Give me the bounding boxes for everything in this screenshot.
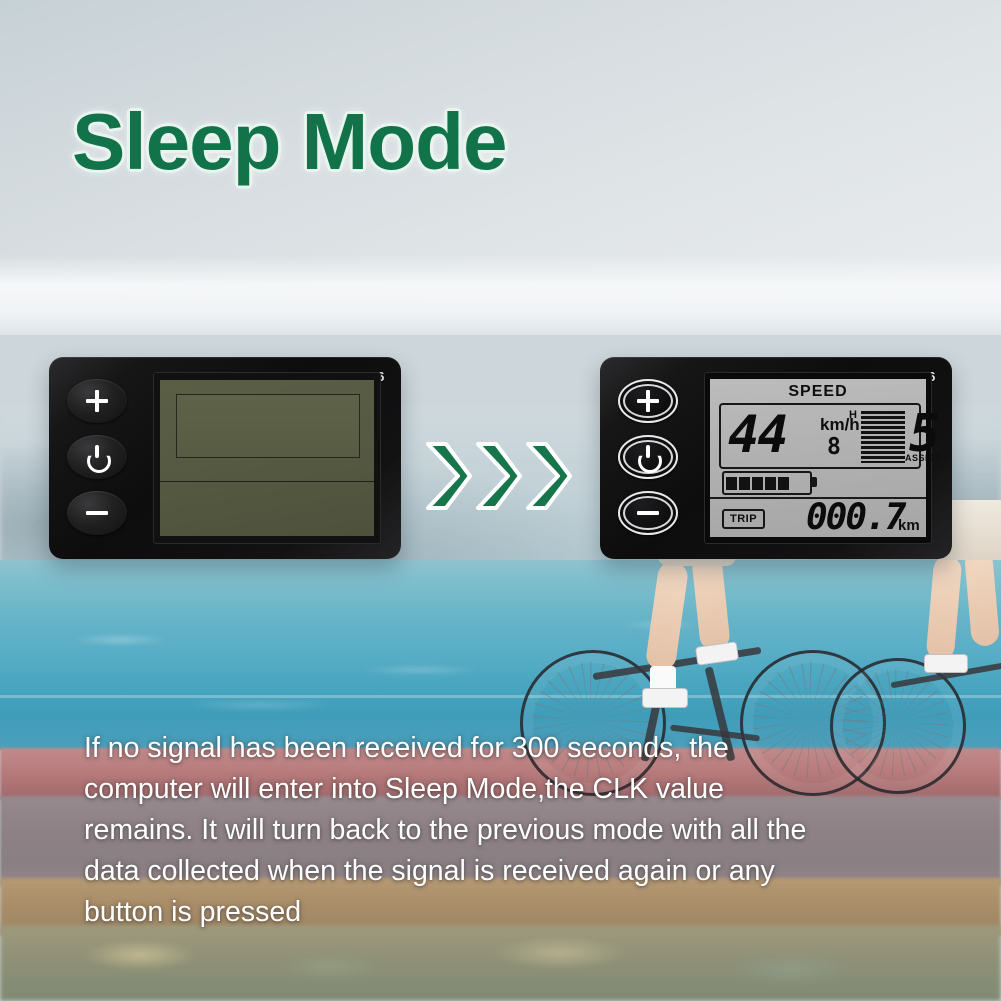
lcd-upper-field	[176, 394, 360, 458]
lcd-screen-blank	[153, 372, 381, 544]
cyclist-leg	[691, 553, 731, 652]
power-icon	[636, 445, 660, 469]
speed-value: 44	[728, 407, 787, 463]
lcd-panel	[160, 380, 374, 536]
cyclist-leg	[926, 555, 963, 661]
cyclist-shoe	[695, 641, 739, 666]
minus-button[interactable]	[618, 491, 678, 535]
plus-button[interactable]	[618, 379, 678, 423]
button-column	[67, 379, 129, 539]
odometer-unit: km	[898, 517, 920, 534]
page-title: Sleep Mode	[72, 96, 507, 188]
minus-icon	[635, 500, 661, 526]
power-button[interactable]	[618, 435, 678, 479]
power-gauge-bars	[861, 411, 905, 463]
sleeping-display: S866	[49, 357, 401, 559]
battery-terminal	[812, 477, 817, 487]
minus-icon	[84, 500, 110, 526]
lcd-main-field: 44 km/h 8 H 5 ASSIST	[719, 403, 921, 469]
transition-arrows	[424, 440, 574, 512]
assist-label: ASSIST	[905, 453, 941, 463]
description-line: computer will enter into Sleep Mode,the …	[84, 769, 924, 810]
description-line: If no signal has been received for 300 s…	[84, 728, 924, 769]
description-line: data collected when the signal is receiv…	[84, 851, 924, 892]
power-icon	[85, 445, 109, 469]
chevron-right-icon	[524, 440, 572, 512]
background-haze	[0, 255, 1001, 335]
speed-label: SPEED	[710, 383, 926, 401]
page-root: Sleep Mode S866	[0, 0, 1001, 1001]
lcd-panel: SPEED 44 km/h 8 H 5 ASSIST TRIP	[710, 379, 926, 537]
cyclist-leg	[645, 560, 690, 671]
active-display: S866 SPEED 44	[600, 357, 952, 559]
plus-icon	[635, 388, 661, 414]
speed-unit-sub: 8	[827, 436, 841, 459]
battery-indicator	[722, 471, 812, 495]
lcd-screen-active: SPEED 44 km/h 8 H 5 ASSIST TRIP	[704, 372, 932, 544]
lcd-divider	[160, 481, 374, 482]
power-gauge-label: H	[849, 409, 857, 421]
description-line: remains. It will turn back to the previo…	[84, 810, 924, 851]
background-vegetation	[0, 925, 1001, 1001]
trip-label: TRIP	[722, 509, 765, 529]
power-button[interactable]	[67, 435, 127, 479]
odometer-value: 000.7	[806, 499, 904, 537]
cyclist-leg	[964, 549, 1000, 647]
cyclist-shoe	[642, 688, 688, 708]
minus-button[interactable]	[67, 491, 127, 535]
description-text: If no signal has been received for 300 s…	[84, 728, 924, 933]
plus-button[interactable]	[67, 379, 127, 423]
button-column	[618, 379, 680, 539]
plus-icon	[84, 388, 110, 414]
cyclist-shoe	[924, 654, 968, 673]
chevron-right-icon	[474, 440, 522, 512]
chevron-right-icon	[424, 440, 472, 512]
description-line: button is pressed	[84, 892, 924, 933]
